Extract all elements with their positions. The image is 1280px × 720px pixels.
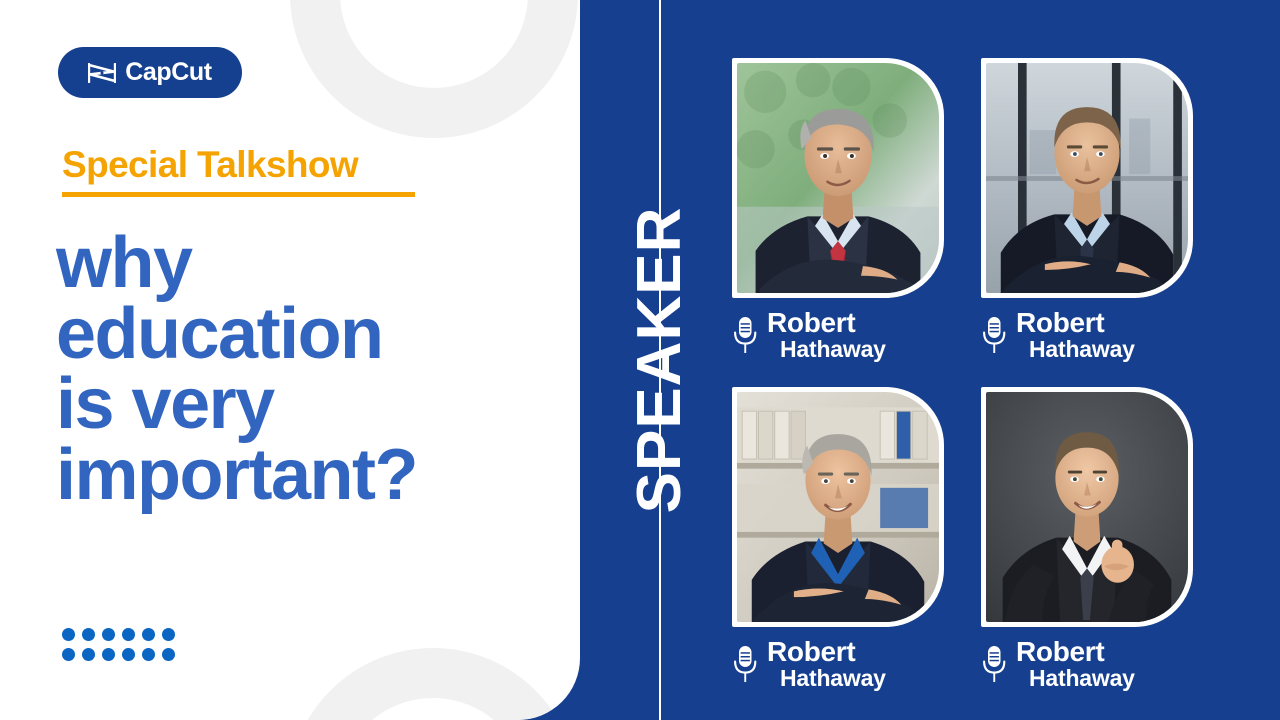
microphone-icon	[981, 644, 1007, 684]
decorative-dot-grid	[62, 628, 175, 661]
speaker-photo	[986, 392, 1188, 622]
speaker-name: Robert Hathaway	[767, 638, 886, 690]
speaker-photo-frame	[732, 387, 944, 627]
dot-row	[62, 628, 175, 641]
dot	[102, 628, 115, 641]
speaker-last-name: Hathaway	[767, 667, 886, 690]
speaker-section-label: SPEAKER	[629, 207, 691, 514]
speaker-name-row: Robert Hathaway	[732, 309, 953, 361]
speaker-last-name: Hathaway	[767, 338, 886, 361]
speaker-name: Robert Hathaway	[1016, 309, 1135, 361]
speaker-first-name: Robert	[1016, 309, 1135, 337]
capcut-logo-icon	[88, 63, 116, 83]
dot	[162, 628, 175, 641]
speaker-photo	[986, 63, 1188, 293]
speaker-name: Robert Hathaway	[1016, 638, 1135, 690]
speaker-name-row: Robert Hathaway	[981, 309, 1202, 361]
speaker-photo-frame	[981, 58, 1193, 298]
speaker-rail: SPEAKER	[600, 0, 720, 720]
speaker-name: Robert Hathaway	[767, 309, 886, 361]
dot	[82, 648, 95, 661]
eyebrow-label: Special Talkshow	[62, 145, 415, 186]
slide-canvas: CapCut Special Talkshow why education is…	[0, 0, 1280, 720]
speaker-photo	[737, 392, 939, 622]
speaker-photo-frame	[732, 58, 944, 298]
dot	[82, 628, 95, 641]
microphone-icon	[981, 315, 1007, 355]
speaker-last-name: Hathaway	[1016, 338, 1135, 361]
headline-line-4: important?	[56, 440, 556, 511]
speaker-name-row: Robert Hathaway	[732, 638, 953, 690]
capcut-logo-text: CapCut	[125, 60, 211, 85]
dot	[142, 648, 155, 661]
microphone-icon	[732, 644, 758, 684]
headline-line-2: education	[56, 299, 556, 370]
dot-row	[62, 648, 175, 661]
speaker-grid: Robert Hathaway	[732, 58, 1202, 698]
speaker-card[interactable]: Robert Hathaway	[732, 387, 953, 698]
speaker-last-name: Hathaway	[1016, 667, 1135, 690]
speaker-photo-frame	[981, 387, 1193, 627]
dot	[62, 648, 75, 661]
decorative-ring-bottom	[288, 648, 578, 720]
speaker-first-name: Robert	[767, 638, 886, 666]
dot	[62, 628, 75, 641]
speaker-card[interactable]: Robert Hathaway	[732, 58, 953, 369]
speaker-card[interactable]: Robert Hathaway	[981, 58, 1202, 369]
decorative-ring-top	[290, 0, 578, 138]
speaker-first-name: Robert	[767, 309, 886, 337]
speaker-card[interactable]: Robert Hathaway	[981, 387, 1202, 698]
eyebrow-group: Special Talkshow	[62, 145, 415, 197]
headline-line-3: is very	[56, 369, 556, 440]
microphone-icon	[732, 315, 758, 355]
headline-line-1: why	[56, 228, 556, 299]
page-title: why education is very important?	[56, 228, 556, 510]
dot	[102, 648, 115, 661]
speaker-photo	[737, 63, 939, 293]
dot	[162, 648, 175, 661]
dot	[122, 628, 135, 641]
speaker-first-name: Robert	[1016, 638, 1135, 666]
dot	[142, 628, 155, 641]
capcut-logo[interactable]: CapCut	[58, 47, 242, 98]
dot	[122, 648, 135, 661]
eyebrow-underline	[62, 192, 415, 197]
speaker-name-row: Robert Hathaway	[981, 638, 1202, 690]
